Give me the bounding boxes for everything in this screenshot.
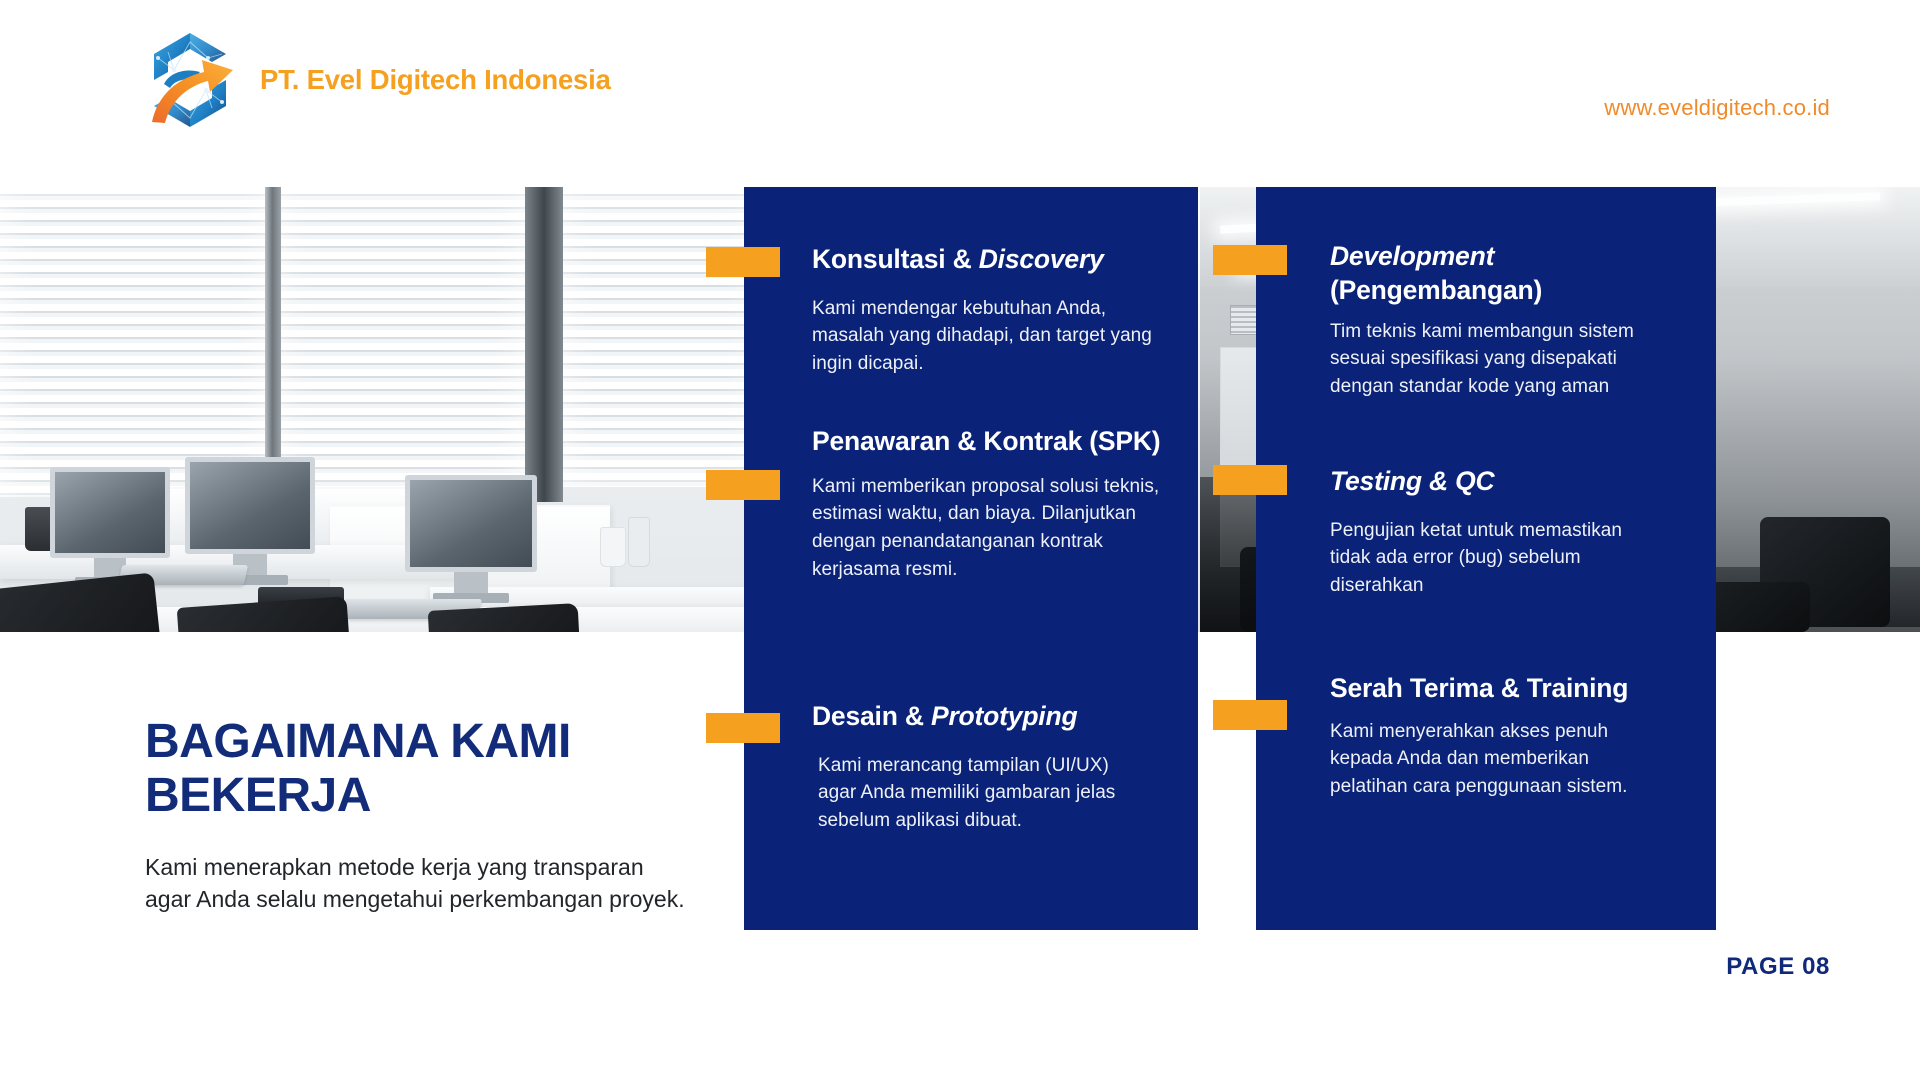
site-url[interactable]: www.eveldigitech.co.id xyxy=(1604,95,1830,121)
orange-tab-marker xyxy=(706,247,780,277)
step-title-italic: Testing & QC xyxy=(1330,466,1494,496)
step-title: Serah Terima & Training xyxy=(1330,672,1710,706)
step-title-tail: (Pengembangan) xyxy=(1330,275,1542,305)
page-subtitle: Kami menerapkan metode kerja yang transp… xyxy=(145,852,685,915)
orange-tab-marker xyxy=(1213,700,1287,730)
step-item: Serah Terima & Training Kami menyerahkan… xyxy=(1330,672,1710,801)
step-title: Konsultasi & Discovery xyxy=(812,243,1212,277)
step-title-plain: Serah Terima & Training xyxy=(1330,673,1628,703)
orange-tab-marker xyxy=(1213,245,1287,275)
step-title-plain: Desain & xyxy=(812,701,931,731)
step-body: Kami memberikan proposal solusi teknis, … xyxy=(812,473,1162,583)
step-body: Kami mendengar kebutuhan Anda, masalah y… xyxy=(812,295,1157,378)
step-item: Desain & Prototyping Kami merancang tamp… xyxy=(812,700,1212,835)
step-title: Penawaran & Kontrak (SPK) xyxy=(812,425,1212,459)
step-body: Kami menyerahkan akses penuh kepada Anda… xyxy=(1330,718,1630,801)
step-title: Desain & Prototyping xyxy=(812,700,1212,734)
page-header: PT. Evel Digitech Indonesia www.eveldigi… xyxy=(0,0,1920,187)
step-title: Development (Pengembangan) xyxy=(1330,240,1710,308)
hexagon-network-arrow-logo-icon xyxy=(138,28,242,132)
brand-name: PT. Evel Digitech Indonesia xyxy=(260,64,611,96)
step-body: Kami merancang tampilan (UI/UX) agar And… xyxy=(812,752,1132,835)
orange-tab-marker xyxy=(706,713,780,743)
brand-lockup: PT. Evel Digitech Indonesia xyxy=(138,28,611,132)
step-title-italic: Discovery xyxy=(979,244,1104,274)
page-title: BAGAIMANA KAMI BEKERJA xyxy=(145,715,705,823)
step-item: Konsultasi & Discovery Kami mendengar ke… xyxy=(812,243,1212,378)
step-body: Pengujian ketat untuk memastikan tidak a… xyxy=(1330,517,1640,600)
orange-tab-marker xyxy=(706,470,780,500)
step-title-plain: Konsultasi & xyxy=(812,244,979,274)
step-body: Tim teknis kami membangun sistem sesuai … xyxy=(1330,318,1680,401)
step-title-plain: Penawaran & Kontrak (SPK) xyxy=(812,426,1160,456)
page-number: PAGE 08 xyxy=(1726,953,1830,981)
step-item: Testing & QC Pengujian ketat untuk memas… xyxy=(1330,465,1710,600)
orange-tab-marker xyxy=(1213,465,1287,495)
step-title: Testing & QC xyxy=(1330,465,1710,499)
step-title-italic: Development xyxy=(1330,241,1494,271)
step-item: Penawaran & Kontrak (SPK) Kami memberika… xyxy=(812,425,1212,583)
step-item: Development (Pengembangan) Tim teknis ka… xyxy=(1330,240,1710,400)
step-title-italic: Prototyping xyxy=(931,701,1077,731)
